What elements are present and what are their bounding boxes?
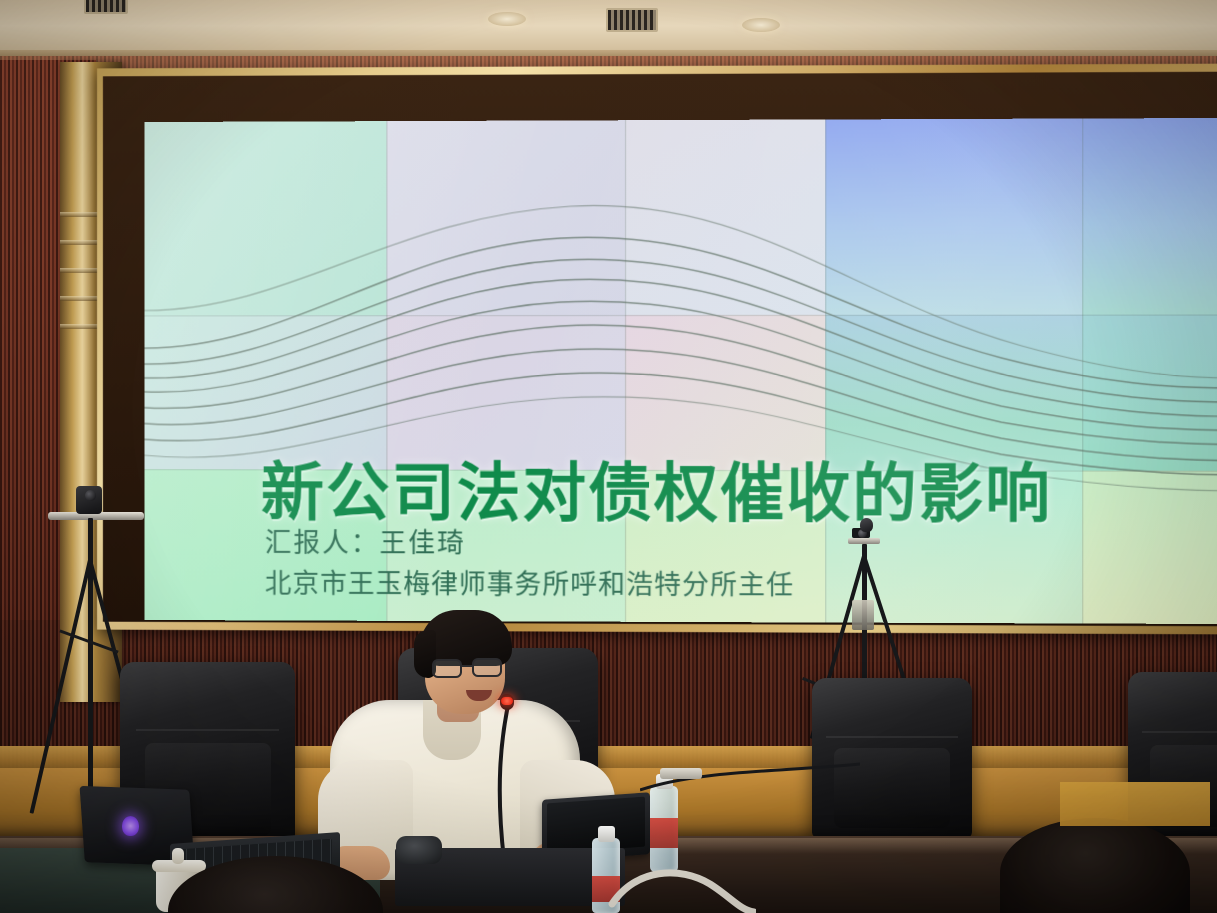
slide-presenter-line: 汇报人：王佳琦	[265, 521, 466, 560]
bottle-label	[650, 818, 678, 848]
tea-cup-knob	[172, 848, 184, 864]
table-paper-patch	[1060, 782, 1210, 826]
laptop-logo-icon	[122, 816, 139, 836]
tripod-plate	[852, 600, 874, 630]
bottle-cap	[598, 826, 615, 842]
downlight-icon	[742, 18, 780, 32]
office-chair[interactable]	[812, 678, 972, 838]
white-cable	[606, 860, 756, 913]
floor-power-strip	[660, 768, 702, 779]
downlight-icon	[488, 12, 526, 26]
mic-led-indicator	[501, 697, 513, 705]
conference-room-photo: 新公司法对债权催收的影响 汇报人：王佳琦 北京市王玉梅律师事务所呼和浩特分所主任	[0, 0, 1217, 913]
power-cable	[640, 760, 860, 800]
slide-affiliation-line: 北京市王玉梅律师事务所呼和浩特分所主任	[265, 562, 794, 603]
glasses-icon	[432, 659, 462, 678]
computer-mouse-icon[interactable]	[396, 836, 442, 864]
led-video-wall: 新公司法对债权催收的影响 汇报人：王佳琦 北京市王玉梅律师事务所呼和浩特分所主任	[145, 118, 1217, 624]
air-vent-icon	[84, 0, 128, 14]
air-vent-icon	[606, 8, 658, 32]
camera-body-icon	[860, 518, 873, 532]
